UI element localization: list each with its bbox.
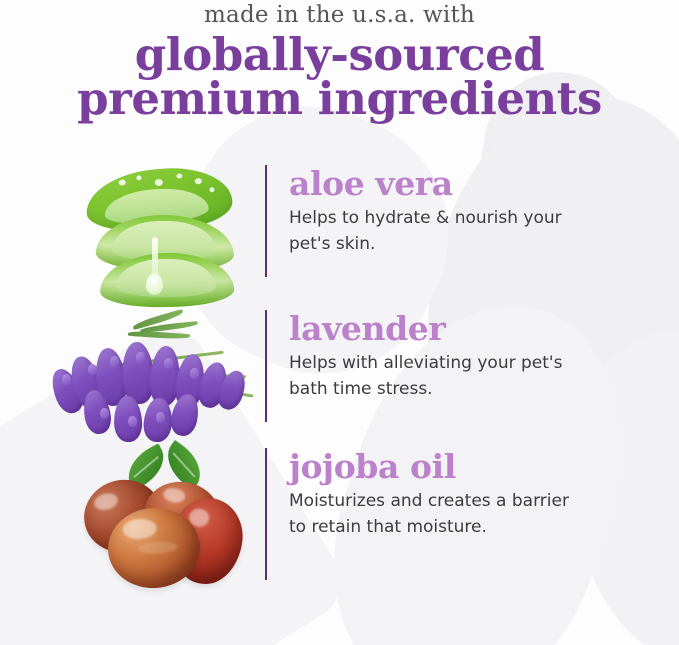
ingredient-row-lavender: lavender Helps with alleviating your pet… [0, 310, 679, 455]
lavender-illustration [48, 312, 263, 452]
lavender-floret [190, 368, 199, 379]
lavender-floret [156, 412, 165, 423]
ingredient-description-aloe-vera: Helps to hydrate & nourish your pet's sk… [289, 205, 589, 257]
dew-drop-icon [155, 179, 163, 187]
ingredient-name-lavender: lavender [289, 310, 589, 348]
ingredient-row-jojoba-oil: jojoba oil Moisturizes and creates a bar… [0, 448, 679, 593]
dew-drop-icon [136, 175, 141, 180]
lavender-floret [128, 416, 137, 427]
jojoba-illustration [78, 452, 248, 594]
eyebrow-text: made in the u.s.a. with [0, 1, 679, 29]
ingredient-description-lavender: Helps with alleviating your pet's bath t… [289, 350, 589, 402]
lavender-floret [136, 352, 145, 363]
aloe-gel-droplet [146, 273, 163, 295]
dew-drop-icon [195, 178, 202, 184]
nut-highlight [138, 540, 179, 555]
lavender-floret [88, 364, 97, 375]
lavender-sprigs-image [0, 310, 265, 455]
ingredient-description-jojoba-oil: Moisturizes and creates a barrier to ret… [289, 488, 589, 540]
aloe-vera-slices-image [0, 165, 265, 310]
lavender-floret [62, 374, 71, 385]
leaf-vein [133, 456, 158, 478]
nut-highlight [122, 518, 157, 540]
jojoba-nuts-image [0, 448, 265, 593]
leaf-vein [173, 452, 196, 477]
aloe-illustration [78, 169, 238, 309]
lavender-floret [110, 356, 119, 367]
ingredient-name-aloe-vera: aloe vera [289, 165, 589, 203]
lavender-text-block: lavender Helps with alleviating your pet… [265, 310, 589, 422]
dew-drop-icon [118, 179, 125, 185]
ingredients-infographic: made in the u.s.a. with globally-sourced… [0, 0, 679, 645]
lavender-leaf [128, 330, 190, 340]
lavender-floret [164, 358, 173, 369]
jojoba-text-block: jojoba oil Moisturizes and creates a bar… [265, 448, 589, 580]
ingredient-name-jojoba-oil: jojoba oil [289, 448, 589, 486]
page-title-line-2: premium ingredients [0, 76, 679, 122]
nut-highlight [92, 491, 119, 512]
header-block: made in the u.s.a. with globally-sourced… [0, 0, 679, 122]
ingredient-row-aloe-vera: aloe vera Helps to hydrate & nourish you… [0, 165, 679, 310]
dew-drop-icon [176, 173, 182, 178]
lavender-floret [100, 408, 109, 419]
dew-drop-icon [209, 187, 214, 192]
nut-highlight [162, 487, 186, 505]
aloe-vera-text-block: aloe vera Helps to hydrate & nourish you… [265, 165, 589, 277]
